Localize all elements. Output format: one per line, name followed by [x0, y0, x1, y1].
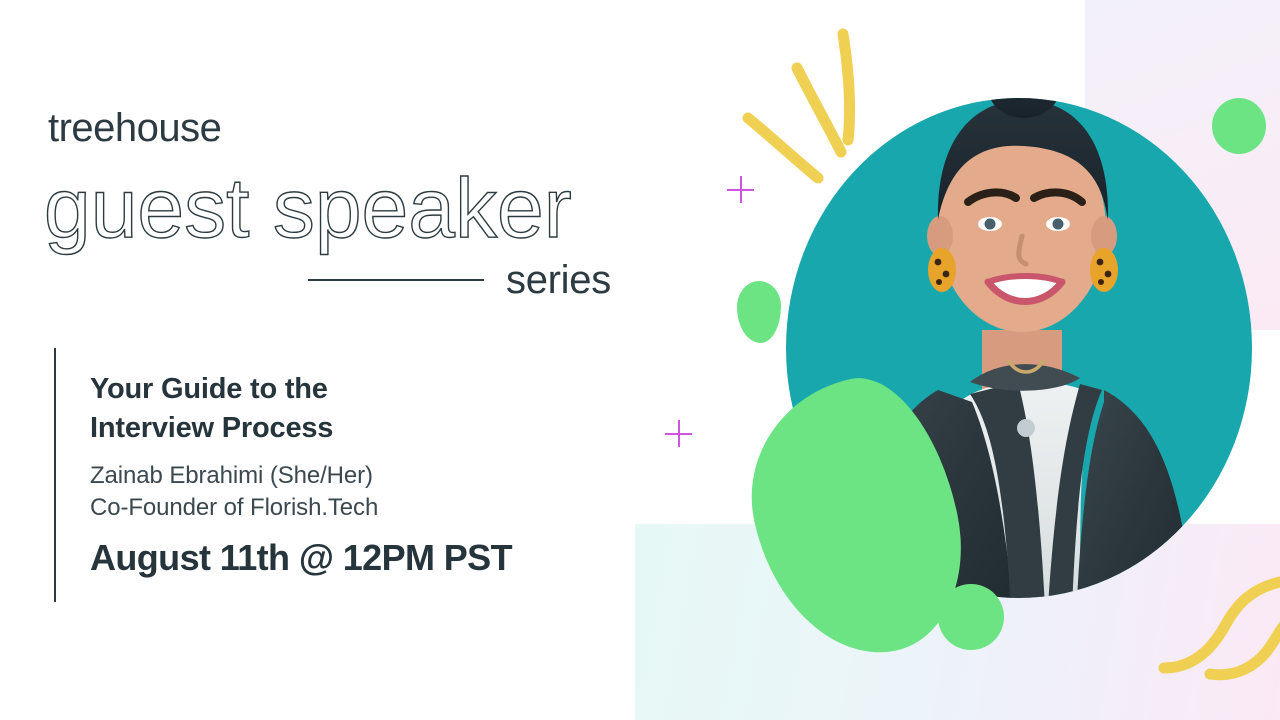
session-title: Your Guide to the Interview Process — [90, 370, 333, 448]
speaker-name: Zainab Ebrahimi (She/Her) — [90, 460, 378, 492]
promo-slide: treehouse guest speaker series Your Guid… — [0, 0, 1280, 720]
treehouse-wordmark: treehouse — [48, 106, 221, 151]
series-label: series — [506, 260, 611, 300]
speaker-block: Zainab Ebrahimi (She/Her) Co-Founder of … — [90, 460, 378, 524]
plus-mark-lower-icon — [665, 420, 692, 447]
session-title-line-2: Interview Process — [90, 409, 333, 448]
left-accent-rule — [54, 348, 56, 602]
speaker-role: Co-Founder of Florish.Tech — [90, 492, 378, 524]
green-blob-small-left-shape — [737, 281, 781, 343]
plus-mark-upper-icon — [727, 176, 754, 203]
yellow-strokes-bottom-right-icon — [1150, 570, 1280, 720]
series-row: series — [308, 256, 628, 304]
session-datetime: August 11th @ 12PM PST — [90, 537, 512, 579]
headline-guest-speaker: guest speaker — [44, 160, 572, 257]
green-dot-bottom-shape — [938, 584, 1004, 650]
session-title-line-1: Your Guide to the — [90, 370, 333, 409]
series-divider-rule — [308, 279, 484, 281]
